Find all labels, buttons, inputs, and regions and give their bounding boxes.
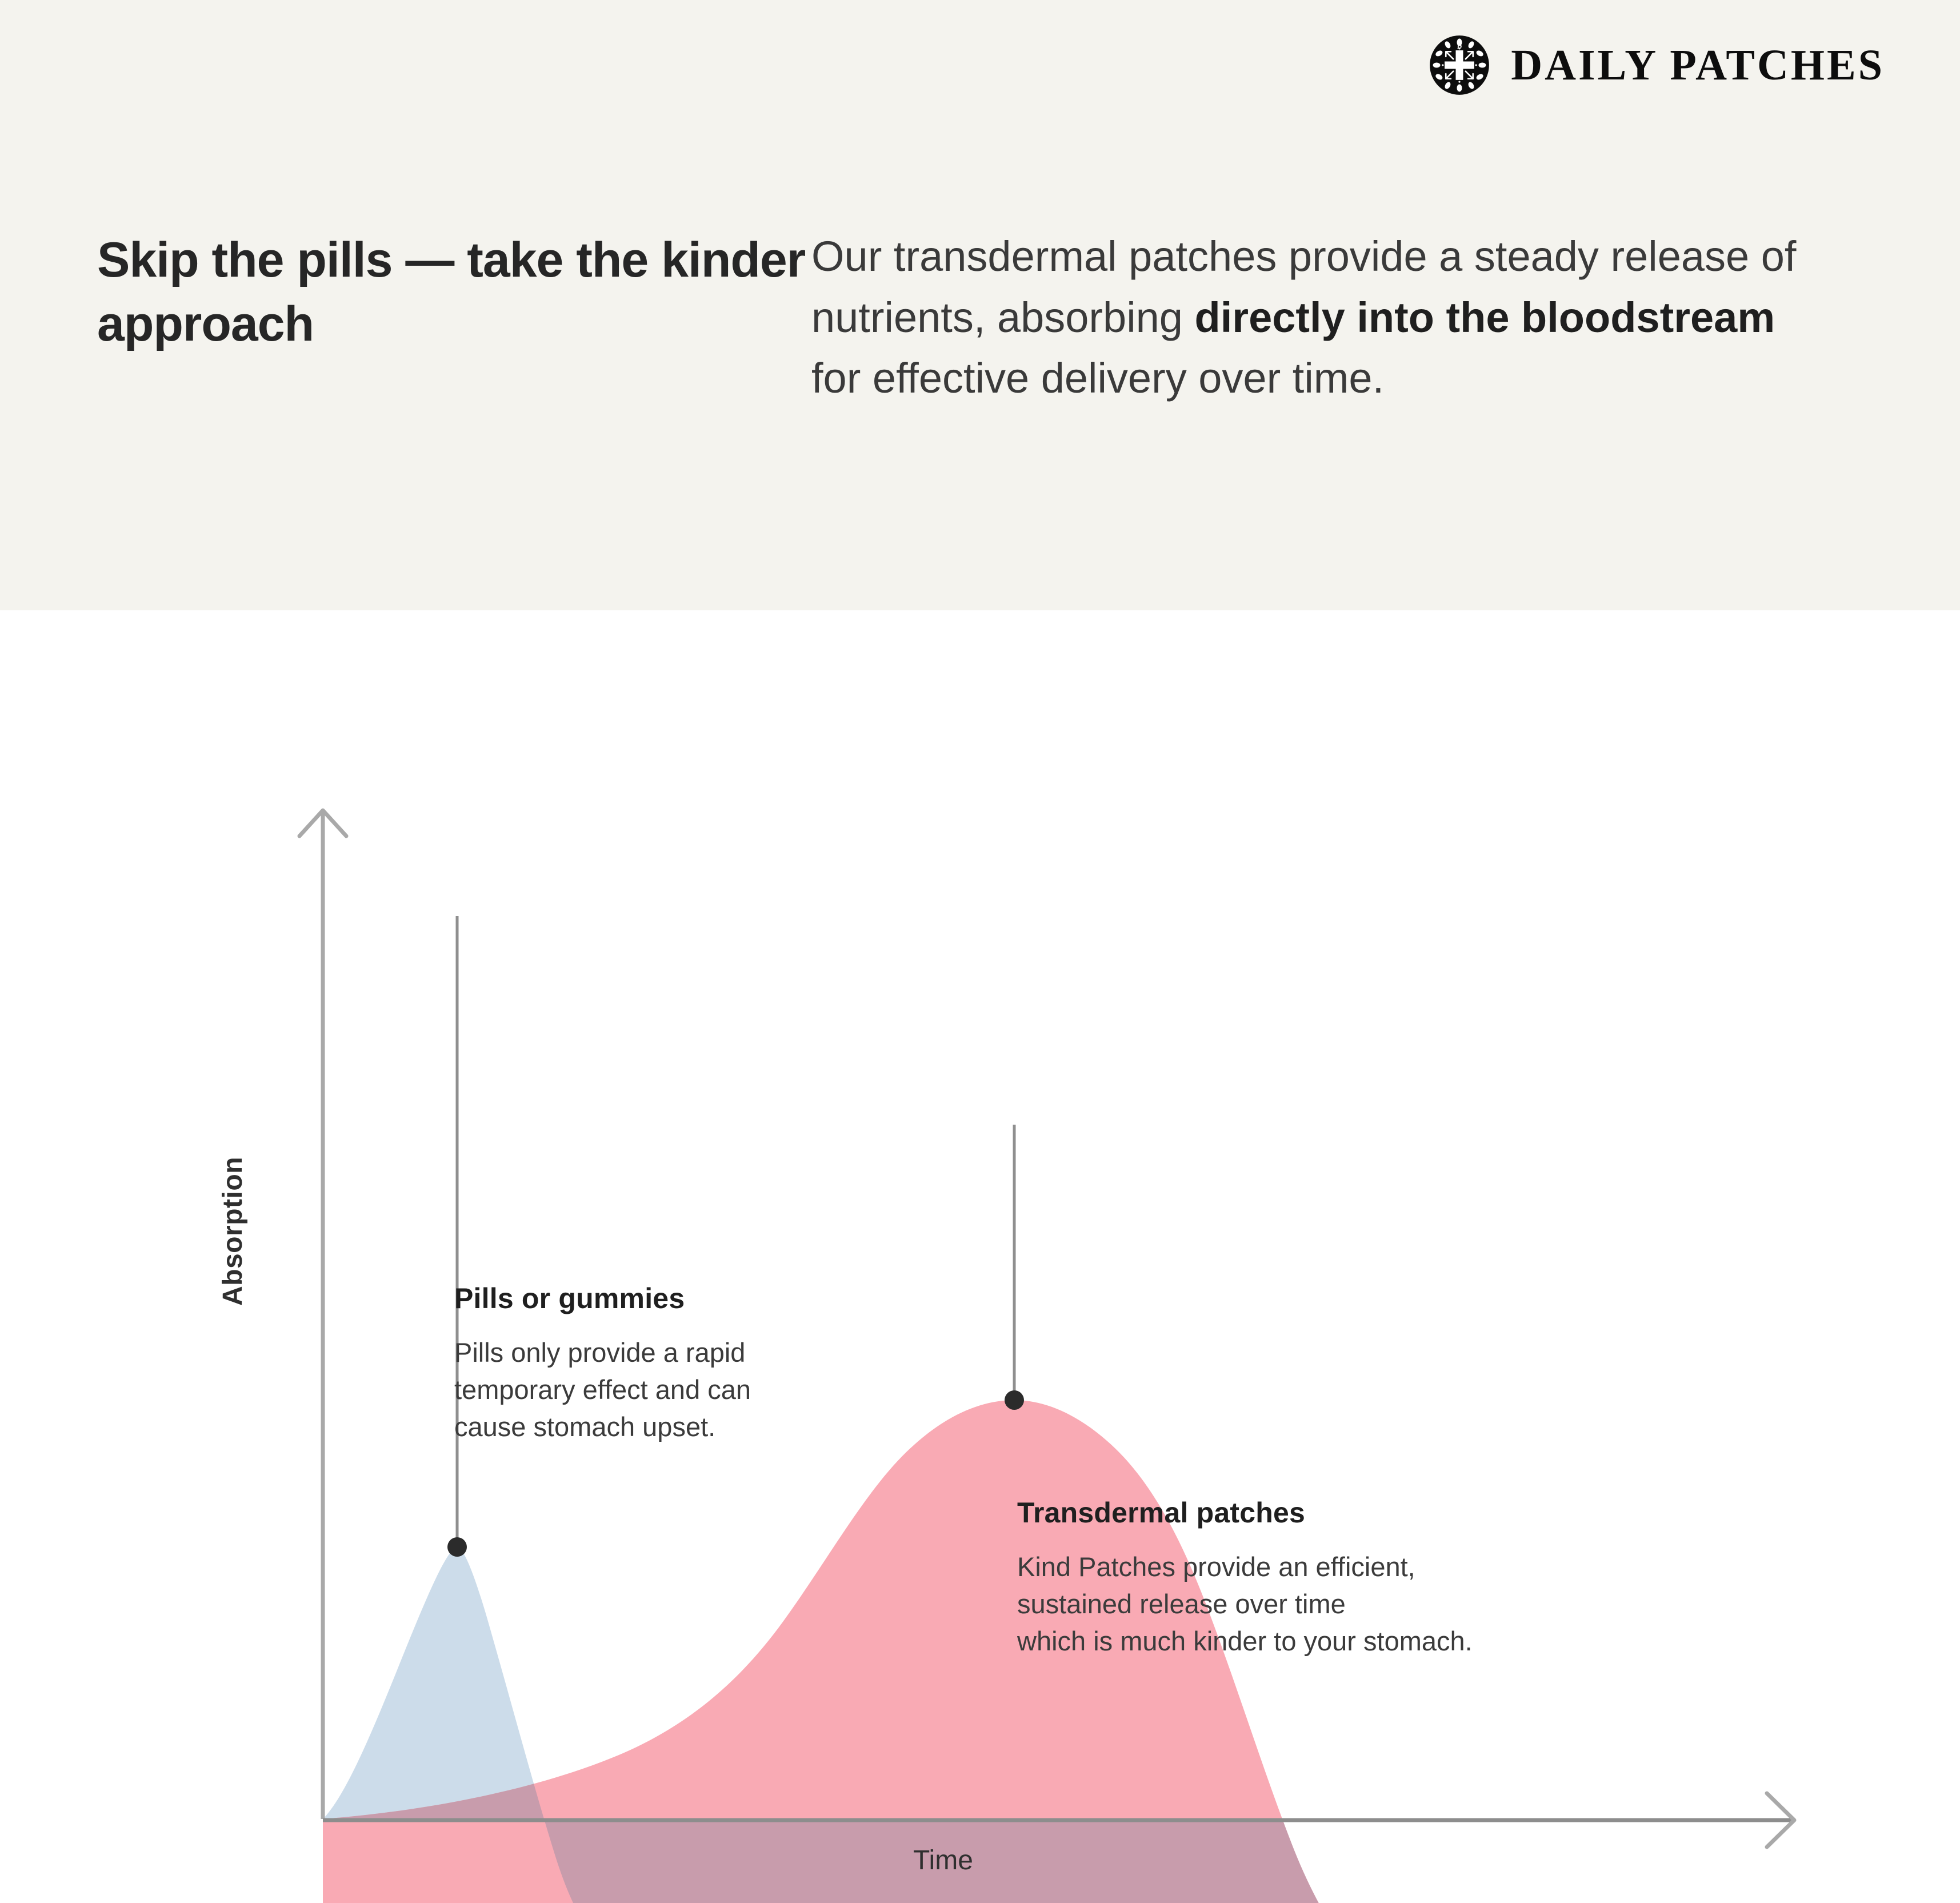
daily-patches-emblem-icon: D P xyxy=(1429,34,1490,96)
annotation-patches: Transdermal patches Kind Patches provide… xyxy=(1017,1496,1771,1660)
pills-peak-marker xyxy=(447,1537,467,1557)
header-description: Our transdermal patches provide a steady… xyxy=(811,226,1823,409)
y-axis-label: Absorption xyxy=(217,1157,249,1306)
page-title: Skip the pills — take the kinder approac… xyxy=(97,226,811,357)
emblem-letter-top: D xyxy=(1457,42,1462,50)
header-band: D P DAILY PATCHES Skip the pills — take … xyxy=(0,0,1960,610)
annotation-pills: Pills or gummies Pills only provide a ra… xyxy=(454,1282,957,1446)
emblem-letter-bottom: P xyxy=(1458,85,1462,93)
patches-peak-marker xyxy=(1005,1390,1024,1410)
lede-text-emphasis: directly into the bloodstream xyxy=(1195,294,1775,341)
brand-lockup[interactable]: D P DAILY PATCHES xyxy=(1429,34,1885,96)
annotation-pills-body: Pills only provide a rapid temporary eff… xyxy=(454,1334,957,1446)
header-content: Skip the pills — take the kinder approac… xyxy=(97,226,1863,409)
annotation-patches-title: Transdermal patches xyxy=(1017,1496,1771,1529)
brand-name: DAILY PATCHES xyxy=(1511,41,1885,90)
lede-text-tail: for effective delivery over time. xyxy=(811,354,1384,402)
annotation-pills-title: Pills or gummies xyxy=(454,1282,957,1315)
x-axis-label: Time xyxy=(913,1845,973,1876)
absorption-chart: Pills or gummies Pills only provide a ra… xyxy=(0,610,1960,1903)
annotation-patches-body: Kind Patches provide an efficient, susta… xyxy=(1017,1549,1771,1660)
absorption-chart-svg xyxy=(0,610,1960,1903)
